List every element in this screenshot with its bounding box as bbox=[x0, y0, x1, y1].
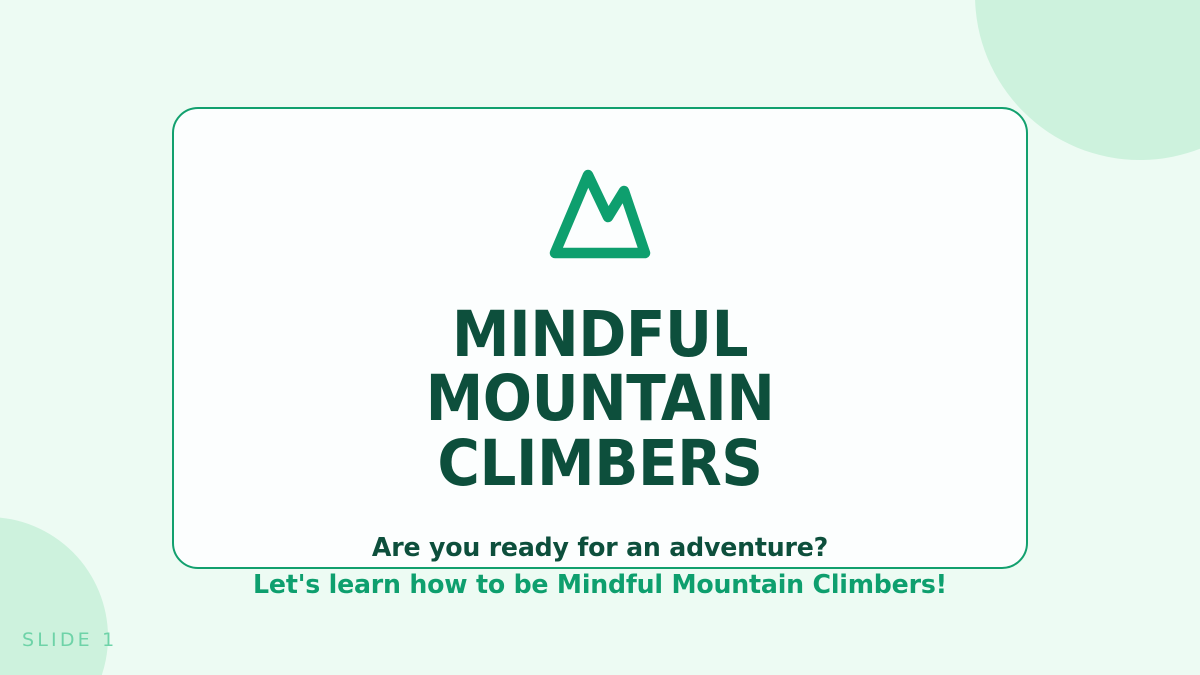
decorative-circle-bottom-left bbox=[0, 517, 108, 675]
subtitle-accent: Let's learn how to be Mindful Mountain C… bbox=[187, 567, 1013, 604]
mountain-icon bbox=[548, 165, 652, 265]
subtitle-block: Are you ready for an adventure? Let's le… bbox=[174, 530, 1026, 604]
slide-number-label: SLIDE 1 bbox=[22, 629, 117, 651]
subtitle-primary: Are you ready for an adventure? bbox=[187, 530, 1013, 567]
slide-canvas: Mindful Mountain Climbers Are you ready … bbox=[0, 0, 1200, 675]
title-card: Mindful Mountain Climbers Are you ready … bbox=[172, 107, 1028, 569]
page-title: Mindful Mountain Climbers bbox=[250, 303, 949, 496]
